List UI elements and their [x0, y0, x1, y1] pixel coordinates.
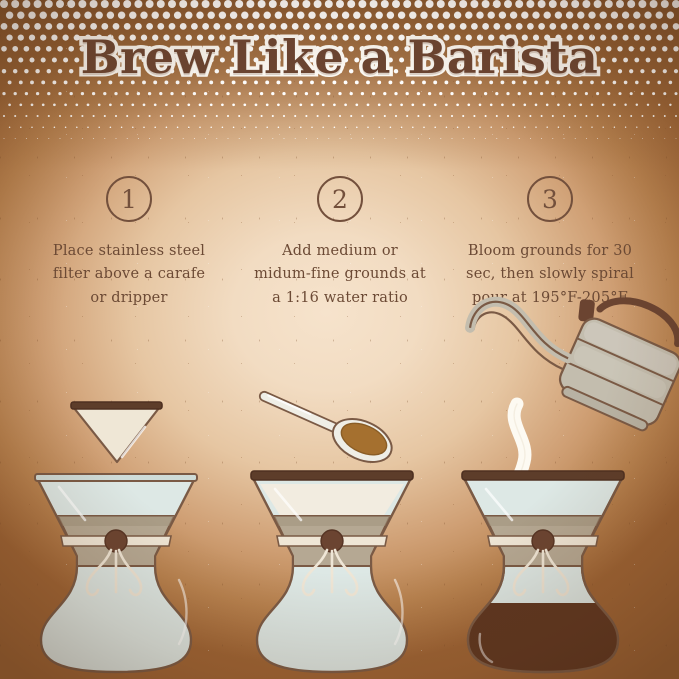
halftone-dot-pattern	[0, 0, 679, 168]
step-3-text: Bloom grounds for 30 sec, then slowly sp…	[437, 240, 663, 310]
step-1: 1 Place stainless steel filter above a c…	[16, 176, 242, 310]
step-2-line-1: Add medium or	[227, 240, 453, 263]
poster-canvas: Brew Like a Barista 1 Place stainless st…	[0, 0, 679, 679]
step-1-line-2: filter above a carafe	[16, 263, 242, 286]
illustrations-layer	[0, 0, 679, 679]
water-stream-icon	[514, 404, 525, 480]
step-2-number-badge: 2	[317, 176, 363, 222]
filter-rim	[251, 471, 413, 480]
step-1-line-1: Place stainless steel	[16, 240, 242, 263]
step-2-line-3: a 1:16 water ratio	[227, 287, 453, 310]
step-1-number-badge: 1	[106, 176, 152, 222]
step-3: 3 Bloom grounds for 30 sec, then slowly …	[437, 176, 663, 310]
step-3-line-2: sec, then slowly spiral	[437, 263, 663, 286]
step-1-line-3: or dripper	[16, 287, 242, 310]
step-3-number-badge: 3	[527, 176, 573, 222]
chemex-carafe-icon	[251, 471, 413, 672]
paper-speckle-texture	[0, 0, 679, 679]
step-1-number: 1	[121, 187, 137, 212]
step-2-line-2: midum-fine grounds at	[227, 263, 453, 286]
page-title: Brew Like a Barista	[81, 30, 599, 84]
brewed-coffee-fill	[456, 603, 636, 679]
step-2-number: 2	[332, 187, 348, 212]
filter-rim	[462, 471, 624, 480]
paper-filter-icon	[71, 402, 162, 462]
title-container: Brew Like a Barista	[0, 30, 679, 84]
illustration-step-2	[251, 378, 413, 672]
spoon-with-grounds-icon	[252, 378, 398, 471]
step-3-line-1: Bloom grounds for 30	[437, 240, 663, 263]
illustration-step-1	[35, 402, 197, 672]
step-3-line-3: pour at 195°F-205°F	[437, 287, 663, 310]
chemex-carafe-icon	[456, 471, 636, 679]
vignette-overlay	[0, 0, 679, 679]
chemex-carafe-icon	[35, 474, 197, 672]
step-3-number: 3	[542, 187, 558, 212]
step-2-text: Add medium or midum-fine grounds at a 1:…	[227, 240, 453, 310]
top-gradient-band	[0, 0, 679, 170]
step-2: 2 Add medium or midum-fine grounds at a …	[227, 176, 453, 310]
step-1-text: Place stainless steel filter above a car…	[16, 240, 242, 310]
